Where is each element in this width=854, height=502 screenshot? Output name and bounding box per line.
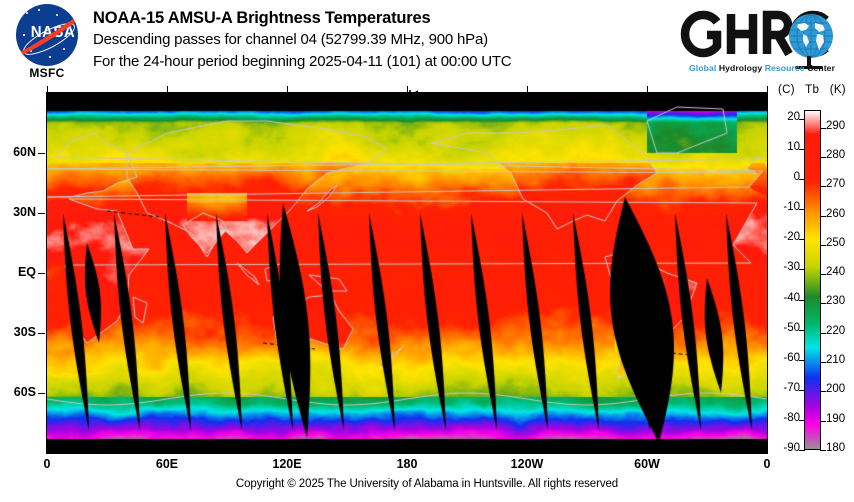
ghrc-tagline: Global Hydrology Resource Center	[680, 63, 844, 73]
lon-tick-top	[407, 86, 408, 93]
colorbar-celsius-tick: 20	[770, 111, 800, 123]
nasa-red-chevron	[16, 10, 78, 60]
copyright-notice: Copyright © 2025 The University of Alaba…	[0, 478, 854, 490]
page-header: NASA MSFC NOAA-15 AMSU-A Brightness Temp…	[0, 0, 854, 90]
colorbar-kelvin-tick: 250	[826, 237, 854, 249]
colorbar-tick-mark	[820, 245, 826, 246]
colorbar-tick-mark	[799, 390, 805, 391]
brightness-temperature-map[interactable]	[46, 92, 768, 454]
lon-label: 120W	[497, 457, 557, 471]
colorbar-tick-mark	[799, 209, 805, 210]
colorbar-tick-mark	[799, 300, 805, 301]
colorbar-celsius-tick: -20	[770, 231, 800, 243]
ghrc-tagline-word-2: Hydrology	[719, 63, 762, 73]
nasa-center-label: MSFC	[10, 66, 84, 80]
lon-tick-top	[527, 86, 528, 93]
colorbar-tick-mark	[799, 450, 805, 451]
colorbar-tick-mark	[820, 157, 826, 158]
ghrc-tagline-word-1: Global	[689, 63, 716, 73]
colorbar-tick-mark	[799, 179, 805, 180]
map-raster	[47, 93, 767, 453]
lat-label: EQ	[18, 265, 36, 279]
lon-tick-top	[647, 86, 648, 93]
colorbar-celsius-tick: 10	[770, 141, 800, 153]
lon-tick	[647, 447, 648, 454]
lat-tick	[38, 393, 45, 394]
lon-tick-top	[167, 86, 168, 93]
lon-tick-top	[287, 86, 288, 93]
ghrc-tagline-word-3: Resource	[765, 63, 805, 73]
lat-tick	[38, 153, 45, 154]
colorbar-celsius-tick: -50	[770, 322, 800, 334]
descending-node-arrow-icon	[408, 89, 444, 101]
colorbar-tick-mark	[820, 303, 826, 304]
colorbar-tick-mark	[799, 360, 805, 361]
ghrc-logo: Global Hydrology Resource Center	[679, 6, 844, 82]
lon-label: 0	[737, 457, 797, 471]
lon-tick	[287, 447, 288, 454]
page-title: NOAA-15 AMSU-A Brightness Temperatures	[93, 8, 673, 29]
colorbar-kelvin-tick: 180	[826, 442, 854, 454]
page-subtitle-channel: Descending passes for channel 04 (52799.…	[93, 29, 673, 51]
nasa-insignia-circle: NASA	[16, 4, 78, 66]
colorbar-tick-mark	[820, 362, 826, 363]
colorbar-tick-mark	[820, 216, 826, 217]
lon-label: 60E	[137, 457, 197, 471]
colorbar-tick-mark	[820, 391, 826, 392]
colorbar-tick-mark	[820, 333, 826, 334]
lon-label: 120E	[257, 457, 317, 471]
colorbar-tick-mark	[820, 421, 826, 422]
nasa-logo: NASA MSFC	[10, 4, 84, 88]
colorbar-tick-mark	[820, 186, 826, 187]
colorbar-tick-mark	[799, 330, 805, 331]
colorbar-tick-mark	[799, 269, 805, 270]
lon-label: 0	[17, 457, 77, 471]
colorbar-kelvin-tick: 230	[826, 295, 854, 307]
colorbar-tick-mark	[820, 274, 826, 275]
lat-tick	[38, 333, 45, 334]
lon-tick	[527, 447, 528, 454]
lon-tick-top	[767, 86, 768, 93]
lat-label: 30S	[14, 325, 36, 339]
colorbar-celsius-tick: -40	[770, 292, 800, 304]
colorbar-celsius-tick: -80	[770, 412, 800, 424]
colorbar-celsius-tick: -70	[770, 382, 800, 394]
lon-tick	[47, 447, 48, 454]
lon-tick	[407, 447, 408, 454]
title-block: NOAA-15 AMSU-A Brightness Temperatures D…	[93, 8, 673, 73]
colorbar-kelvin-tick: 220	[826, 325, 854, 337]
colorbar-tick-mark	[799, 420, 805, 421]
ghrc-tagline-word-4: Center	[807, 63, 835, 73]
page-subtitle-period: For the 24-hour period beginning 2025-04…	[93, 51, 673, 73]
colorbar-kelvin-tick: 200	[826, 383, 854, 395]
lat-label: 60N	[13, 145, 36, 159]
lon-label: 180	[377, 457, 437, 471]
colorbar-celsius-tick: 0	[770, 171, 800, 183]
lon-tick	[767, 447, 768, 454]
lon-label: 60W	[617, 457, 677, 471]
colorbar-unit-kelvin: (K)	[830, 84, 846, 96]
colorbar-celsius-tick: -90	[770, 442, 800, 454]
colorbar-kelvin-tick: 260	[826, 208, 854, 220]
lat-label: 30N	[13, 205, 36, 219]
colorbar-kelvin-tick: 240	[826, 266, 854, 278]
colorbar-header: (C) Tb (K)	[778, 84, 854, 96]
colorbar-tick-mark	[799, 149, 805, 150]
colorbar-kelvin-tick: 190	[826, 413, 854, 425]
colorbar-kelvin-tick: 270	[826, 178, 854, 190]
ghrc-globe-icon	[789, 14, 833, 58]
colorbar-tick-mark	[820, 450, 826, 451]
colorbar-kelvin-tick: 280	[826, 149, 854, 161]
colorbar-celsius-tick: -10	[770, 201, 800, 213]
colorbar-tick-mark	[820, 128, 826, 129]
lat-label: 60S	[14, 385, 36, 399]
lat-tick	[38, 273, 45, 274]
colorbar-tick-mark	[799, 239, 805, 240]
colorbar-quantity-label: Tb	[805, 84, 819, 96]
colorbar-tick-mark	[799, 119, 805, 120]
lon-tick-top	[47, 86, 48, 93]
colorbar-gradient	[804, 110, 821, 450]
colorbar-celsius-tick: -30	[770, 261, 800, 273]
colorbar-kelvin-tick: 290	[826, 120, 854, 132]
lat-tick	[38, 213, 45, 214]
colorbar-kelvin-tick: 210	[826, 354, 854, 366]
lon-tick	[167, 447, 168, 454]
colorbar-celsius-tick: -60	[770, 352, 800, 364]
colorbar-unit-celsius: (C)	[778, 84, 795, 96]
